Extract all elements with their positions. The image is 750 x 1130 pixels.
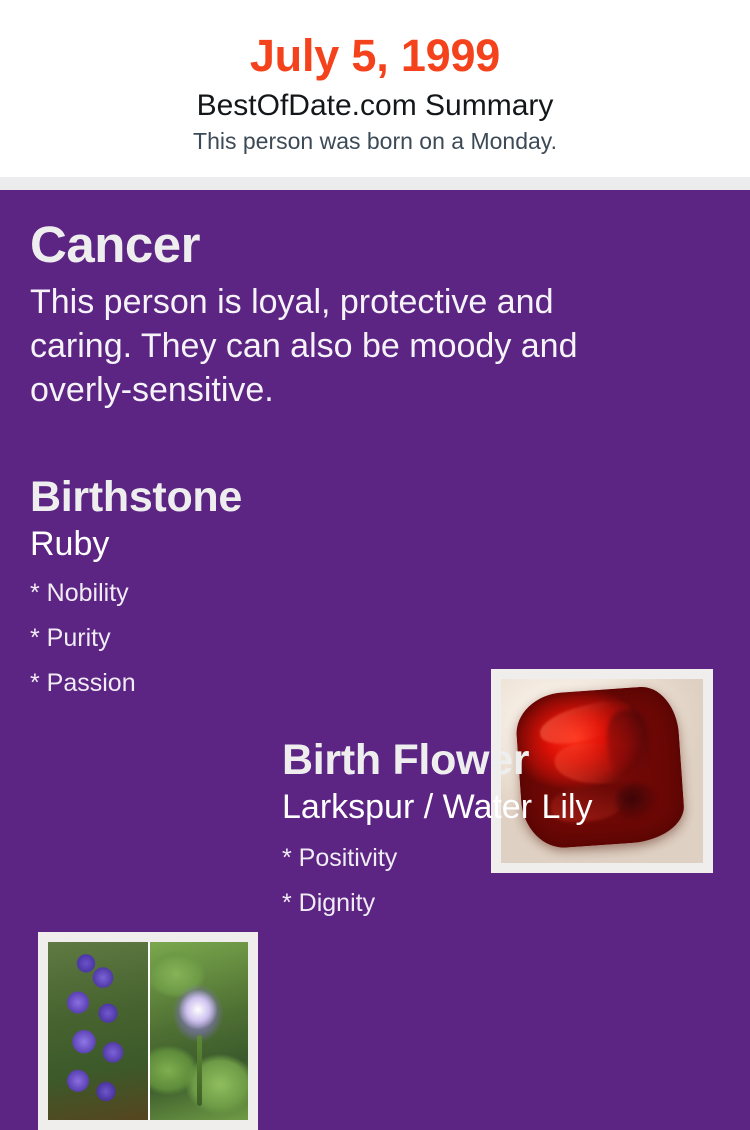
birth-flower-trait-list: * Positivity * Dignity	[282, 828, 732, 926]
birthstone-section: Birthstone Ruby * Nobility * Purity * Pa…	[30, 472, 470, 706]
list-item: * Nobility	[30, 571, 470, 616]
page-title-date: July 5, 1999	[0, 0, 750, 82]
zodiac-sign-name: Cancer	[30, 216, 650, 274]
birth-flower-title: Birth Flower	[282, 735, 732, 785]
image-split-divider	[148, 942, 150, 1120]
zodiac-section: Cancer This person is loyal, protective …	[30, 216, 650, 412]
list-item: * Dignity	[282, 881, 732, 926]
list-item: * Purity	[30, 616, 470, 661]
birthstone-title: Birthstone	[30, 472, 470, 522]
birth-flower-image	[48, 942, 248, 1120]
lily-stem	[197, 1035, 202, 1106]
header: July 5, 1999 BestOfDate.com Summary This…	[0, 0, 750, 177]
birth-flower-name: Larkspur / Water Lily	[282, 785, 732, 828]
birthstone-trait-list: * Nobility * Purity * Passion	[30, 565, 470, 706]
bestofdate-summary-card: July 5, 1999 BestOfDate.com Summary This…	[0, 0, 750, 1000]
birth-flower-section: Birth Flower Larkspur / Water Lily * Pos…	[282, 735, 732, 926]
header-divider	[0, 177, 750, 190]
zodiac-description: This person is loyal, protective and car…	[30, 274, 650, 412]
birthstone-name: Ruby	[30, 522, 470, 565]
water-lily-flower-icon	[148, 942, 248, 1120]
details-panel: Cancer This person is loyal, protective …	[0, 190, 750, 1000]
list-item: * Passion	[30, 661, 470, 706]
list-item: * Positivity	[282, 836, 732, 881]
birth-flower-image-frame	[38, 932, 258, 1130]
birth-day-of-week-note: This person was born on a Monday.	[0, 124, 750, 155]
larkspur-flower-icon	[48, 942, 148, 1120]
site-name-summary: BestOfDate.com Summary	[0, 82, 750, 124]
